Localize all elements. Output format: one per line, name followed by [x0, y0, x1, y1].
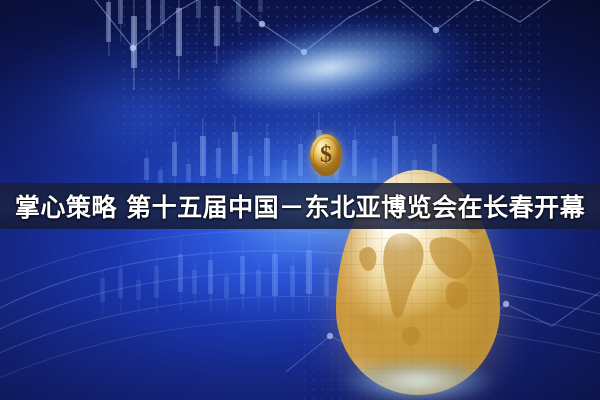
headline-text: 掌心策略 第十五届中国－东北亚博览会在长春开幕: [0, 188, 600, 224]
dollar-sign-icon: $: [310, 134, 342, 176]
gold-dollar-coin: $: [310, 134, 342, 176]
egg-base-glow: [318, 352, 518, 400]
banner-image: $ 掌心策略 第十五届中国－东北亚博览会在长春开幕: [0, 0, 600, 400]
title-band: 掌心策略 第十五届中国－东北亚博览会在长春开幕: [0, 183, 600, 229]
